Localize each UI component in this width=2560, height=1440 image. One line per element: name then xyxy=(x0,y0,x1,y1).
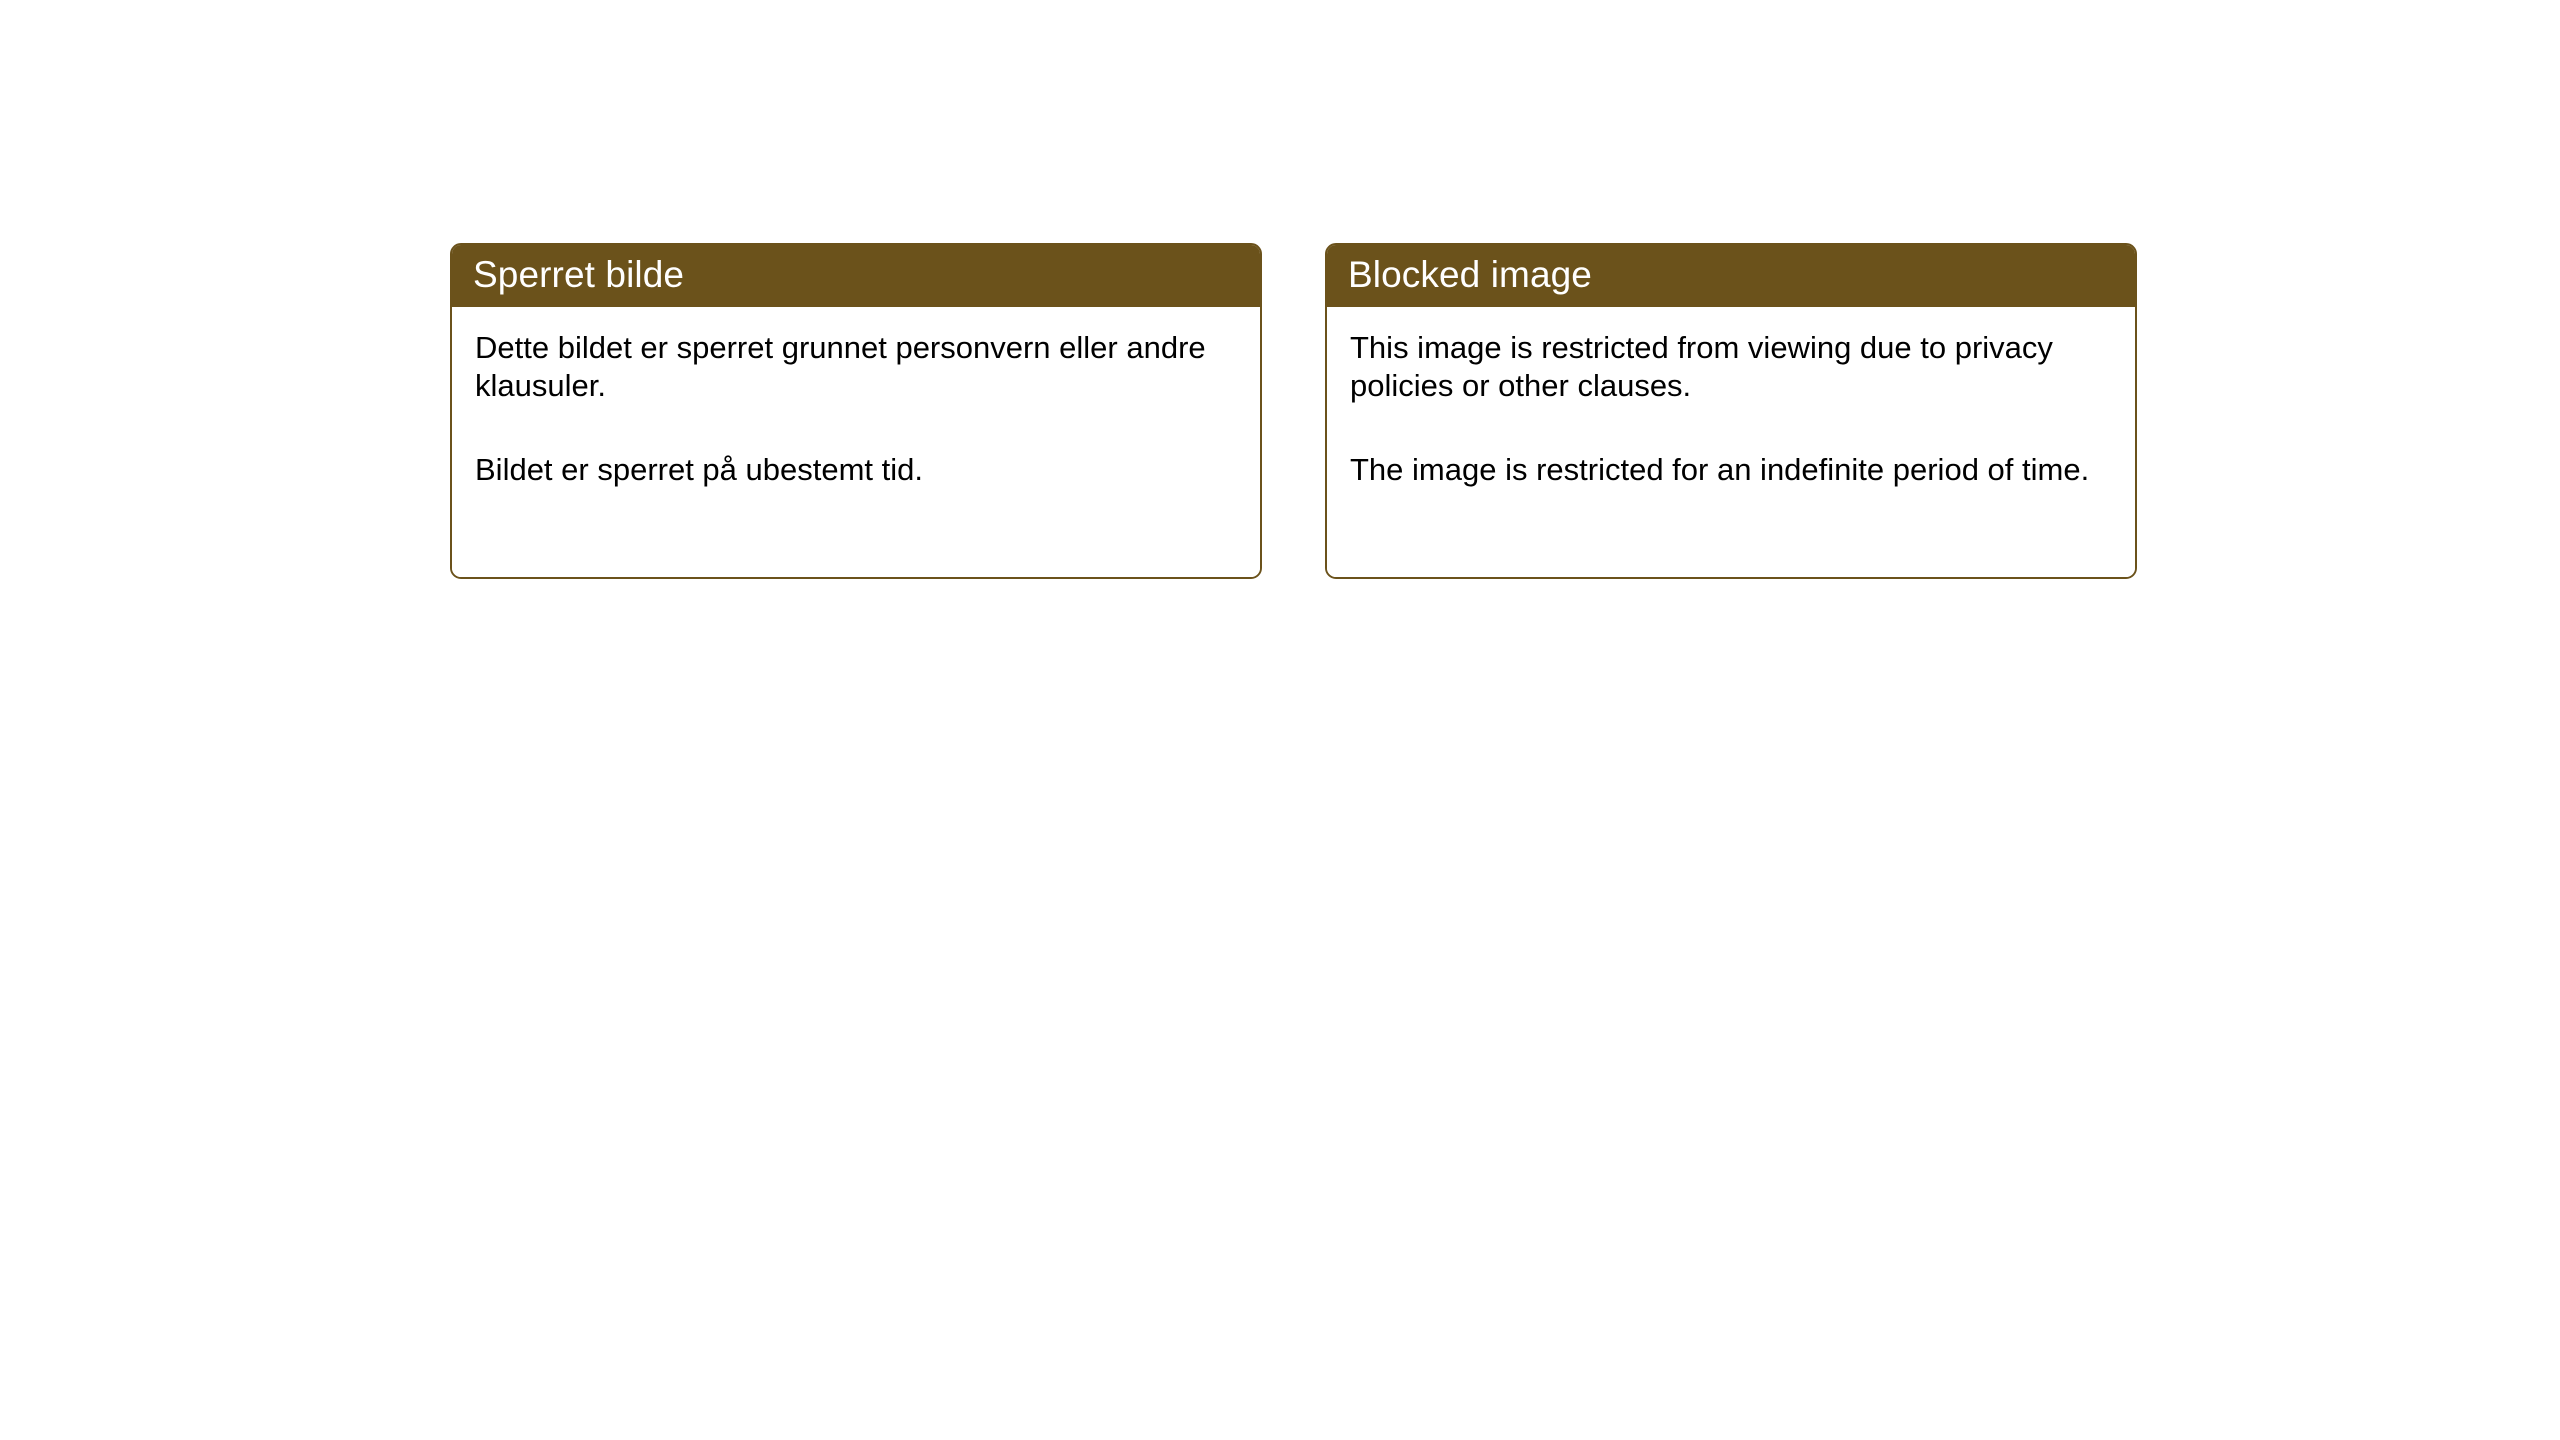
panel-paragraph-duration-no: Bildet er sperret på ubestemt tid. xyxy=(475,451,1236,489)
blocked-image-notices: Sperret bilde Dette bildet er sperret gr… xyxy=(450,243,2137,579)
panel-paragraph-reason-no: Dette bildet er sperret grunnet personve… xyxy=(475,329,1236,405)
panel-paragraph-reason-en: This image is restricted from viewing du… xyxy=(1350,329,2111,405)
panel-title-en: Blocked image xyxy=(1327,245,2135,307)
panel-paragraph-duration-en: The image is restricted for an indefinit… xyxy=(1350,451,2111,489)
panel-body-en: This image is restricted from viewing du… xyxy=(1327,307,2135,577)
blocked-image-panel-en: Blocked image This image is restricted f… xyxy=(1325,243,2137,579)
panel-title-no: Sperret bilde xyxy=(452,245,1260,307)
blocked-image-panel-no: Sperret bilde Dette bildet er sperret gr… xyxy=(450,243,1262,579)
panel-body-no: Dette bildet er sperret grunnet personve… xyxy=(452,307,1260,577)
